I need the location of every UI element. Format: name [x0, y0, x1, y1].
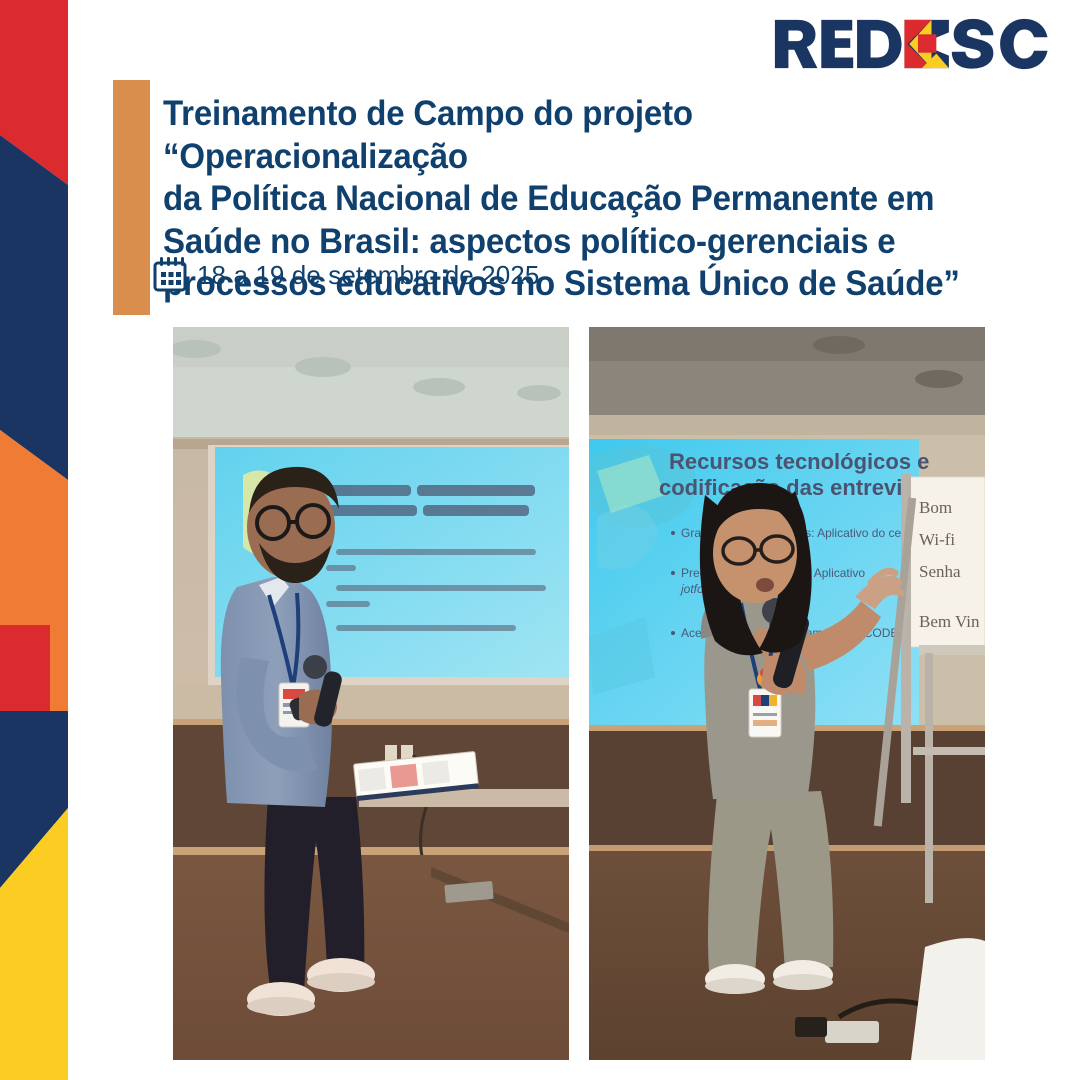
deco-shape-navy-diagonal: [0, 135, 68, 480]
svg-text:Bem Vin: Bem Vin: [919, 612, 980, 631]
event-date-text: 18 a 19 de setembro de 2025: [197, 260, 539, 291]
photo-gallery: Recursos tecnológicos e codificação das …: [173, 327, 985, 1060]
left-decorative-bar: [0, 0, 68, 1080]
svg-text:Recursos tecnológicos e: Recursos tecnológicos e: [669, 449, 929, 474]
deco-shape-orange-strip: [50, 625, 68, 711]
redescola-wordmark: [772, 16, 1062, 72]
calendar-icon: [150, 255, 190, 295]
svg-text:Senha: Senha: [919, 562, 961, 581]
poster-canvas: Treinamento de Campo do projeto “Operaci…: [0, 0, 1080, 1080]
photo-right[interactable]: Recursos tecnológicos e codificação das …: [589, 327, 985, 1060]
deco-shape-red-square: [0, 625, 50, 711]
event-date: 18 a 19 de setembro de 2025: [150, 255, 539, 295]
photo-left[interactable]: [173, 327, 569, 1060]
svg-text:Wi-fi: Wi-fi: [919, 530, 955, 549]
svg-text:Bom: Bom: [919, 498, 952, 517]
title-accent-bar: [113, 80, 150, 315]
